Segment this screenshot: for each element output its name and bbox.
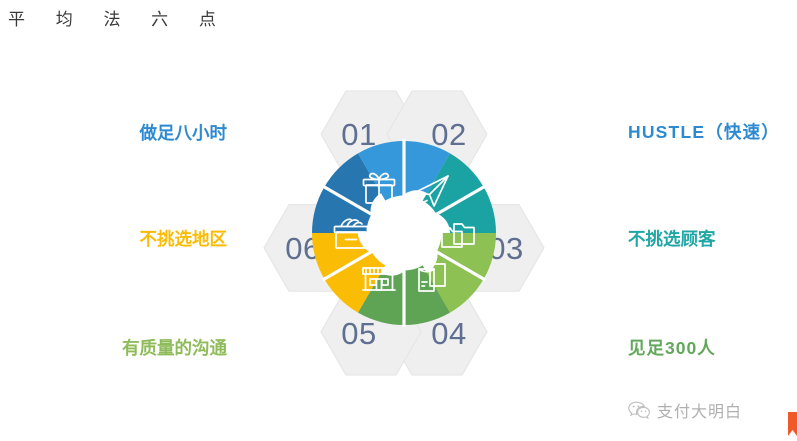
corner-ribbon-icon	[788, 412, 797, 436]
hexagon-puzzle-diagram: 01 02 03 04 05 06	[253, 82, 555, 384]
hexagon-number-04: 04	[431, 316, 466, 351]
wechat-icon	[628, 401, 650, 420]
watermark: 支付大明白	[628, 398, 742, 422]
segment-label-02: HUSTLE（快速）	[628, 121, 780, 143]
segment-label-06-text: 不挑选地区	[140, 229, 228, 249]
segment-label-04: 见足300人	[628, 337, 716, 359]
wheel-center-hole	[367, 196, 442, 271]
page-title: 平 均 法 六 点	[8, 8, 229, 32]
segment-label-05: 有质量的沟通	[122, 337, 227, 359]
segment-label-06: 不挑选地区	[140, 228, 228, 250]
watermark-text: 支付大明白	[657, 398, 742, 422]
segment-label-05-text: 有质量的沟通	[122, 338, 227, 358]
hexagon-number-02: 02	[431, 117, 466, 152]
segment-label-03-text: 不挑选顾客	[628, 229, 716, 249]
segment-label-01-text: 做足八小时	[140, 123, 228, 143]
puzzle-wheel	[289, 113, 519, 352]
segment-label-02-text: HUSTLE（快速）	[628, 122, 780, 142]
hexagon-number-01: 01	[341, 117, 376, 152]
segment-label-03: 不挑选顾客	[628, 228, 716, 250]
segment-label-01: 做足八小时	[140, 122, 228, 144]
segment-label-04-text: 见足300人	[628, 338, 716, 358]
hexagon-number-05: 05	[341, 316, 376, 351]
